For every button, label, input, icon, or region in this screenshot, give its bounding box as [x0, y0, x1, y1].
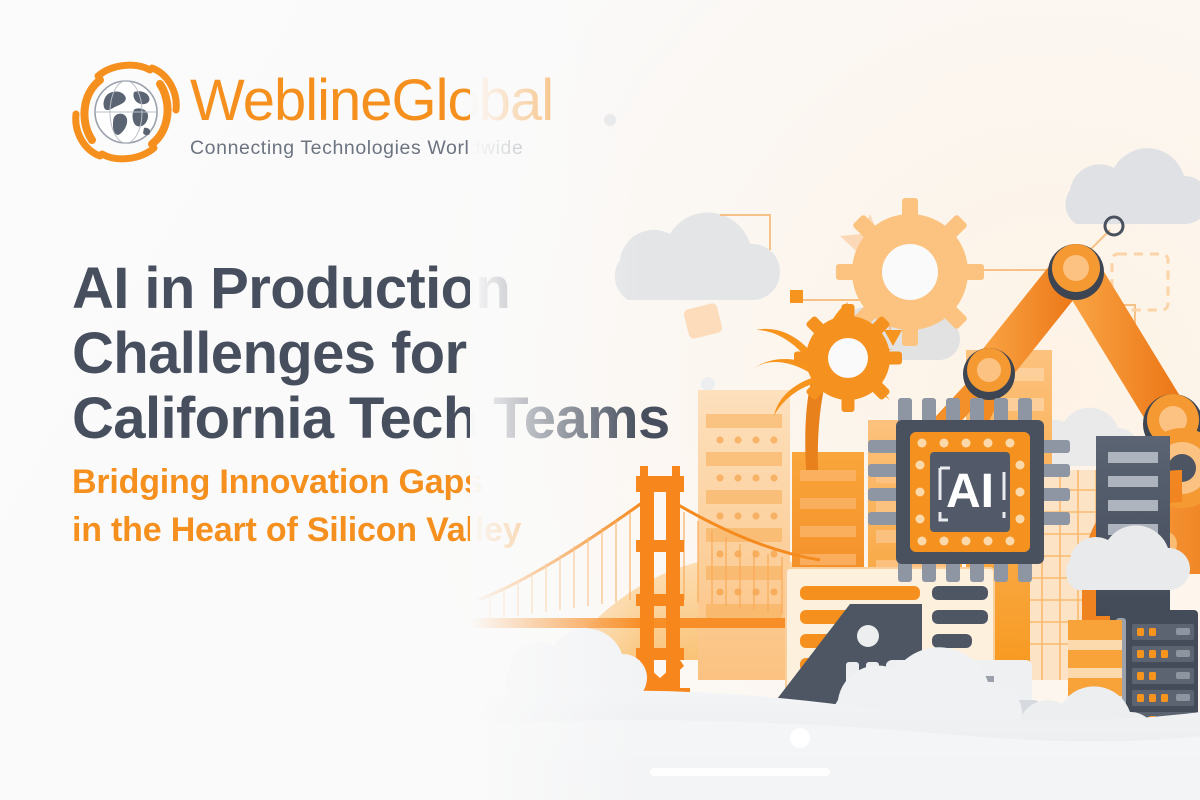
decor-dot [790, 728, 810, 748]
robot-joint [963, 348, 1015, 400]
subhead-line-2: in the Heart of Silicon Valley [72, 511, 521, 549]
banner-root: WeblineGlobal Connecting Technologies Wo… [0, 0, 1200, 800]
gear-icon [794, 304, 902, 412]
ai-microchip-icon: AI [868, 398, 1070, 582]
window-round [857, 625, 879, 647]
circuit-node-icon [790, 290, 803, 303]
subhead-line-1: Bridging Innovation Gaps [72, 463, 483, 501]
chip-label: AI [946, 465, 994, 518]
water-highlight [650, 768, 830, 776]
decor-square [683, 302, 723, 339]
globe-swirl-icon [72, 58, 180, 166]
decor-dot [701, 377, 715, 391]
headline-line-2: Challenges for [72, 321, 466, 386]
left-fade [470, 0, 640, 800]
cloud-icon [1065, 148, 1200, 224]
headline-line-1: AI in Production [72, 256, 510, 321]
hero-illustration: AI [470, 0, 1200, 800]
robot-joint [1048, 244, 1104, 300]
